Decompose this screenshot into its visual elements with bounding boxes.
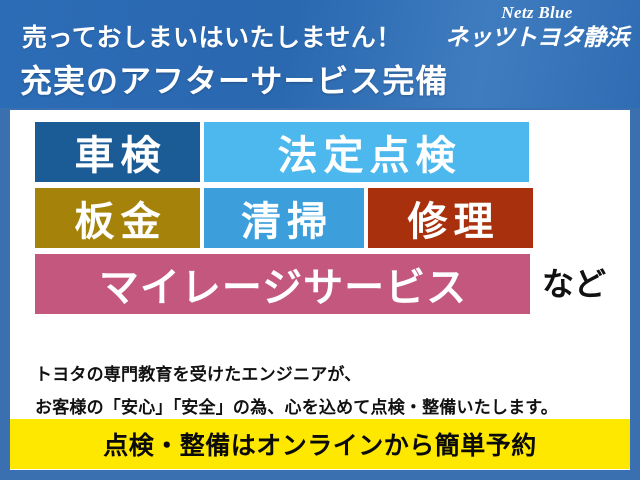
- header-headline: 充実のアフターサービス完備: [20, 56, 448, 102]
- advertisement-panel: 売っておしまいはいたしません！ 充実のアフターサービス完備 Netz Blue …: [0, 0, 640, 480]
- body-copy-line-1: トヨタの専門教育を受けたエンジニアが、: [35, 363, 620, 388]
- service-tag-row: 車検 法定点検: [10, 110, 630, 182]
- dealer-logo: Netz Blue ネッツトヨタ静浜: [442, 4, 632, 50]
- service-tag-seisou: 清掃: [204, 188, 364, 248]
- service-tag-row: 板金 清掃 修理: [10, 188, 630, 248]
- service-tag-mileage-service: マイレージサービス: [35, 254, 530, 314]
- service-tag-shaken: 車検: [35, 122, 200, 182]
- header-banner: 売っておしまいはいたしません！ 充実のアフターサービス完備 Netz Blue …: [0, 0, 640, 108]
- body-copy-line-2: お客様の「安心」「安全」の為、心を込めて点検・整備いたします。: [35, 396, 620, 421]
- online-booking-banner-text: 点検・整備はオンラインから簡単予約: [103, 426, 537, 462]
- service-tag-row: マイレージサービス など: [10, 254, 630, 314]
- service-tag-houtei-tenken: 法定点検: [204, 122, 529, 182]
- service-tag-shuuri: 修理: [368, 188, 533, 248]
- service-tag-suffix-nado: など: [542, 254, 606, 314]
- online-booking-banner[interactable]: 点検・整備はオンラインから簡単予約: [10, 419, 630, 469]
- logo-japanese-text: ネッツトヨタ静浜: [440, 24, 634, 50]
- service-tag-list: 車検 法定点検 板金 清掃 修理 マイレージサービス など: [10, 110, 630, 320]
- service-tag-bankin: 板金: [35, 188, 200, 248]
- content-card: 車検 法定点検 板金 清掃 修理 マイレージサービス など トヨタの専門教育を受…: [10, 110, 630, 470]
- header-tagline: 売っておしまいはいたしません！: [22, 18, 402, 54]
- logo-english-text: Netz Blue: [442, 4, 632, 23]
